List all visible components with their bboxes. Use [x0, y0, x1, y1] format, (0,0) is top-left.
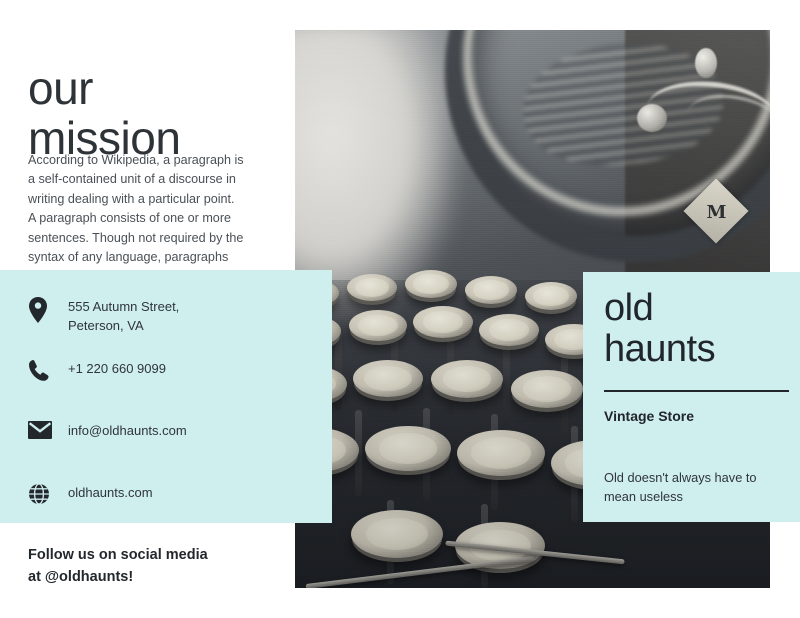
globe-icon	[28, 482, 68, 505]
contact-list: 555 Autumn Street, Peterson, VA +1 220 6…	[28, 296, 288, 544]
social-media-footer: Follow us on social media at @oldhaunts!	[28, 544, 308, 588]
phone-icon	[28, 358, 68, 382]
brand-title-line2: haunts	[604, 329, 794, 370]
location-pin-icon	[28, 296, 68, 323]
brand-title: old haunts	[604, 288, 794, 370]
contact-item-phone[interactable]: +1 220 660 9099	[28, 358, 288, 420]
brochure-page: M	[0, 0, 800, 618]
phone-number: +1 220 660 9099	[68, 358, 166, 378]
contact-item-address[interactable]: 555 Autumn Street, Peterson, VA	[28, 296, 288, 358]
email-address: info@oldhaunts.com	[68, 420, 187, 440]
brand-tagline: Old doesn't always have to mean useless	[604, 468, 779, 506]
envelope-icon	[28, 420, 68, 439]
contact-item-text: 555 Autumn Street, Peterson, VA	[68, 296, 179, 335]
page-title-line1: our	[28, 63, 278, 113]
address-line1: 555 Autumn Street,	[68, 299, 179, 314]
brand-divider	[604, 390, 789, 392]
page-title: our mission	[28, 63, 278, 163]
address-line2: Peterson, VA	[68, 318, 144, 333]
contact-item-website[interactable]: oldhaunts.com	[28, 482, 288, 544]
brand-subtitle: Vintage Store	[604, 408, 694, 424]
brand-title-line1: old	[604, 288, 794, 329]
footer-line2: at @oldhaunts!	[28, 569, 133, 585]
website-url: oldhaunts.com	[68, 482, 153, 502]
contact-item-email[interactable]: info@oldhaunts.com	[28, 420, 288, 482]
footer-line1: Follow us on social media	[28, 547, 208, 563]
